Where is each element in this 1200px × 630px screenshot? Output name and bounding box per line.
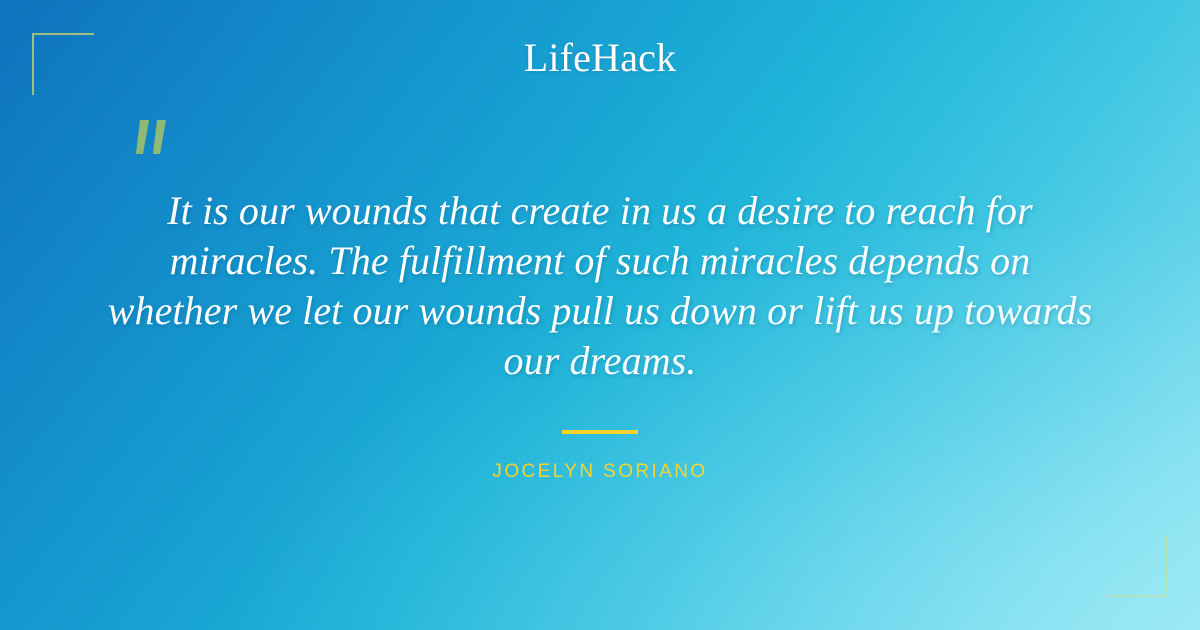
quote-text: It is our wounds that create in us a des… (100, 186, 1100, 386)
attribution-author: JOCELYN SORIANO (0, 461, 1200, 483)
quote-block: It is our wounds that create in us a des… (100, 186, 1100, 386)
lifehack-logo: LifeHack (0, 36, 1200, 80)
quote-card: LifeHack It is our wounds that create in… (0, 0, 1200, 630)
quotation-mark-icon (128, 116, 178, 176)
attribution-divider (562, 430, 638, 434)
corner-bracket-bottom-right (1106, 535, 1168, 597)
attribution: JOCELYN SORIANO (0, 430, 1200, 483)
